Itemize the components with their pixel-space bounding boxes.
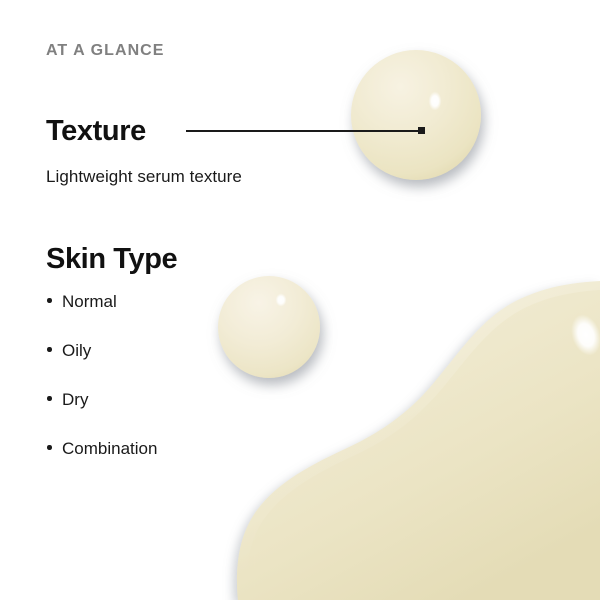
list-item-label: Oily xyxy=(62,342,91,359)
eyebrow-label: AT A GLANCE xyxy=(46,42,165,60)
texture-description: Lightweight serum texture xyxy=(46,167,242,187)
bullet-icon xyxy=(47,298,52,303)
list-item: Combination xyxy=(46,439,157,488)
bullet-icon xyxy=(47,396,52,401)
product-infographic-canvas: AT A GLANCE Texture Lightweight serum te… xyxy=(0,0,600,600)
list-item: Dry xyxy=(46,390,157,439)
bullet-icon xyxy=(47,347,52,352)
texture-heading: Texture xyxy=(46,115,146,148)
list-item: Normal xyxy=(46,292,157,341)
list-item-label: Normal xyxy=(62,293,117,310)
list-item: Oily xyxy=(46,341,157,390)
list-item-label: Dry xyxy=(62,391,88,408)
skin-type-list: Normal Oily Dry Combination xyxy=(46,292,157,488)
bullet-icon xyxy=(47,445,52,450)
texture-leader-line xyxy=(186,130,422,132)
texture-leader-dot xyxy=(418,127,425,134)
list-item-label: Combination xyxy=(62,440,157,457)
skin-type-heading: Skin Type xyxy=(46,243,177,276)
